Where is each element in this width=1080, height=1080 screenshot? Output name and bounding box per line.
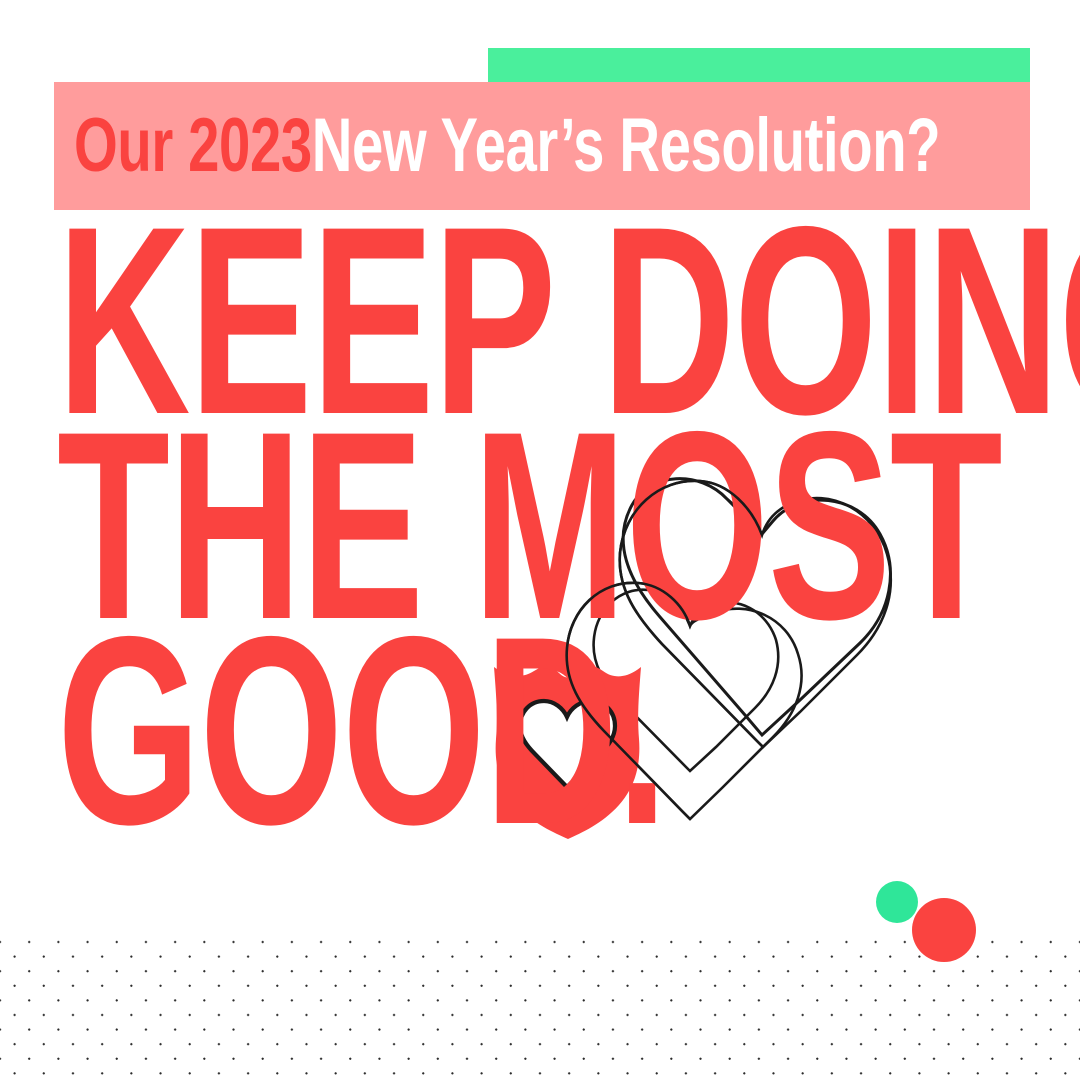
page-headline: KEEP DOING THE MOST GOOD. bbox=[57, 218, 1080, 833]
poster-canvas: Our 2023 New Year’s Resolution? KEEP DOI… bbox=[0, 0, 1080, 1080]
red-dot-circle bbox=[912, 898, 976, 962]
green-dot-circle bbox=[876, 881, 918, 923]
